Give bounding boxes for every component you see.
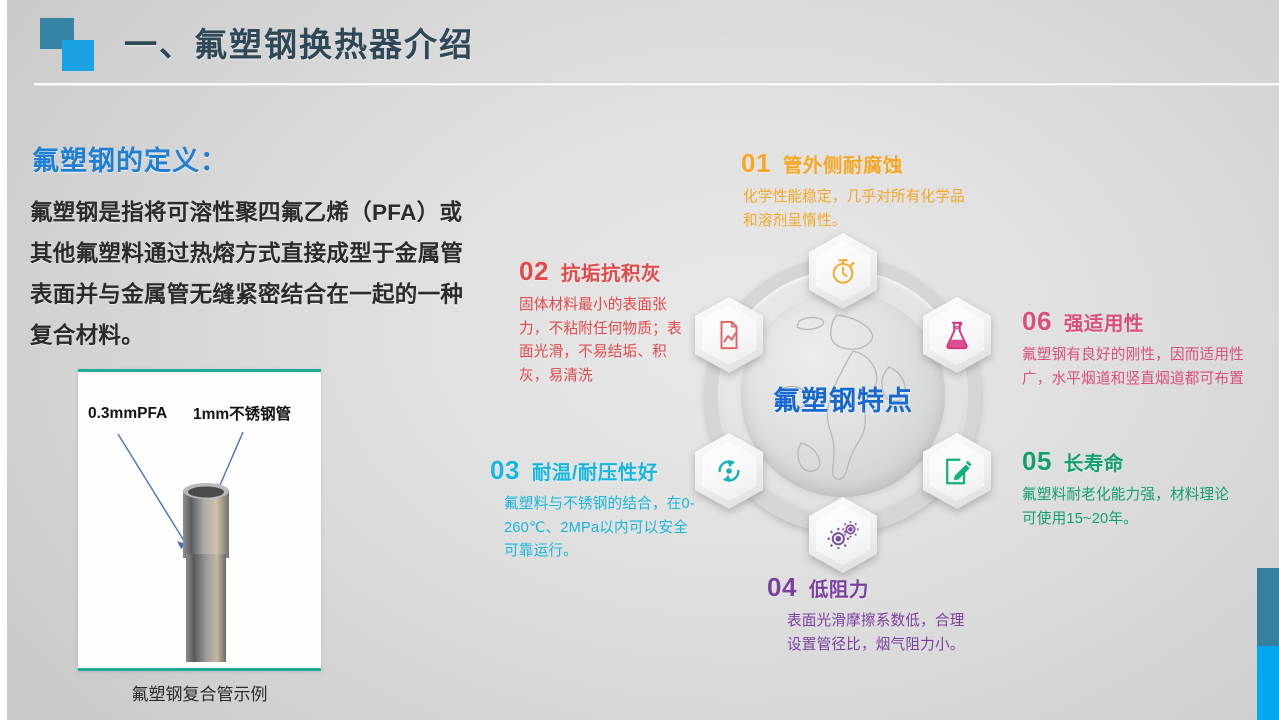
chart-document-icon (715, 320, 743, 350)
feature-number: 06 (1022, 306, 1052, 337)
photo-bottom-rule (78, 668, 321, 671)
feature-title: 管外侧耐腐蚀 (783, 149, 903, 178)
feature-heading: 06 强适用性 (1022, 306, 1260, 337)
feature-number: 02 (519, 256, 549, 287)
feature-item-02: 02 抗垢抗积灰 固体材料最小的表面张力，不粘附任何物质；表面光滑，不易结垢、积… (519, 256, 684, 388)
gears-icon (827, 521, 859, 549)
feature-title: 低阻力 (809, 573, 869, 602)
photo-inner: 0.3mmPFA 1mm不锈钢管 (78, 372, 321, 668)
feature-item-04: 04 低阻力 表面光滑摩擦系数低，合理设置管径比，烟气阻力小。 (767, 572, 967, 657)
hexagon-flask[interactable] (923, 297, 991, 373)
hexagon-edit-document[interactable] (923, 433, 991, 509)
feature-number: 03 (490, 455, 520, 486)
feature-item-05: 05 长寿命 氟塑料耐老化能力强，材料理论可使用15~20年。 (1022, 446, 1232, 531)
header-divider (34, 82, 1279, 86)
stopwatch-icon (828, 256, 858, 286)
composite-pipe-photo: 0.3mmPFA 1mm不锈钢管 (78, 369, 321, 671)
slide: 一、氟塑钢换热器介绍 氟塑钢的定义： 氟塑钢是指将可溶性聚四氟乙烯（PFA）或其… (0, 0, 1279, 720)
feature-heading: 03 耐温/耐压性好 (490, 455, 695, 486)
feature-item-03: 03 耐温/耐压性好 氟塑料与不锈钢的结合，在0-260℃、2MPa以内可以安全… (490, 455, 695, 564)
header-square-light-icon (62, 40, 94, 71)
feature-item-06: 06 强适用性 氟塑钢有良好的刚性，因而适用性广，水平烟道和竖直烟道都可布置 (1022, 306, 1260, 391)
hexagon-recycle[interactable] (695, 433, 763, 509)
page-title: 一、氟塑钢换热器介绍 (124, 18, 474, 66)
edit-document-icon (943, 456, 972, 486)
feature-description: 固体材料最小的表面张力，不粘附任何物质；表面光滑，不易结垢、积灰，易清洗 (519, 294, 684, 388)
hexagon-stopwatch[interactable] (809, 233, 877, 309)
flask-icon (943, 320, 971, 350)
photo-caption: 氟塑钢复合管示例 (78, 680, 321, 705)
slide-header: 一、氟塑钢换热器介绍 (0, 0, 1279, 92)
definition-body-text: 氟塑钢是指将可溶性聚四氟乙烯（PFA）或其他氟塑料通过热熔方式直接成型于金属管表… (30, 192, 482, 356)
definition-heading: 氟塑钢的定义： (32, 139, 228, 178)
feature-description: 氟塑料与不锈钢的结合，在0-260℃、2MPa以内可以安全可靠运行。 (504, 493, 695, 564)
feature-number: 01 (741, 148, 771, 179)
hexagon-chart-document[interactable] (695, 297, 763, 373)
feature-heading: 04 低阻力 (767, 572, 967, 603)
recycle-arrows-icon (714, 456, 744, 486)
hexagon-gears[interactable] (809, 497, 877, 573)
feature-title: 强适用性 (1064, 307, 1144, 336)
feature-title: 耐温/耐压性好 (532, 456, 658, 485)
feature-heading: 01 管外侧耐腐蚀 (741, 148, 971, 179)
feature-description: 氟塑料耐老化能力强，材料理论可使用15~20年。 (1022, 484, 1232, 531)
feature-description: 表面光滑摩擦系数低，合理设置管径比，烟气阻力小。 (787, 610, 967, 657)
feature-number: 05 (1022, 446, 1052, 477)
feature-description: 氟塑钢有良好的刚性，因而适用性广，水平烟道和竖直烟道都可布置 (1022, 344, 1260, 391)
diagram-center-label: 氟塑钢特点 (741, 379, 945, 418)
features-circular-diagram: 氟塑钢特点 (683, 235, 1003, 555)
label-pfa: 0.3mmPFA (88, 405, 167, 423)
globe-graphic: 氟塑钢特点 (741, 293, 945, 497)
feature-heading: 05 长寿命 (1022, 446, 1232, 477)
feature-heading: 02 抗垢抗积灰 (519, 256, 684, 287)
label-steel-pipe: 1mm不锈钢管 (193, 402, 291, 424)
left-edge-strip (0, 0, 7, 720)
feature-number: 04 (767, 572, 797, 603)
feature-description: 化学性能稳定，几乎对所有化学品和溶剂呈惰性。 (743, 186, 971, 233)
accent-block-dark (1257, 568, 1279, 646)
feature-item-01: 01 管外侧耐腐蚀 化学性能稳定，几乎对所有化学品和溶剂呈惰性。 (741, 148, 971, 233)
accent-block-light (1257, 646, 1279, 720)
feature-title: 长寿命 (1064, 447, 1124, 476)
feature-title: 抗垢抗积灰 (561, 257, 661, 286)
